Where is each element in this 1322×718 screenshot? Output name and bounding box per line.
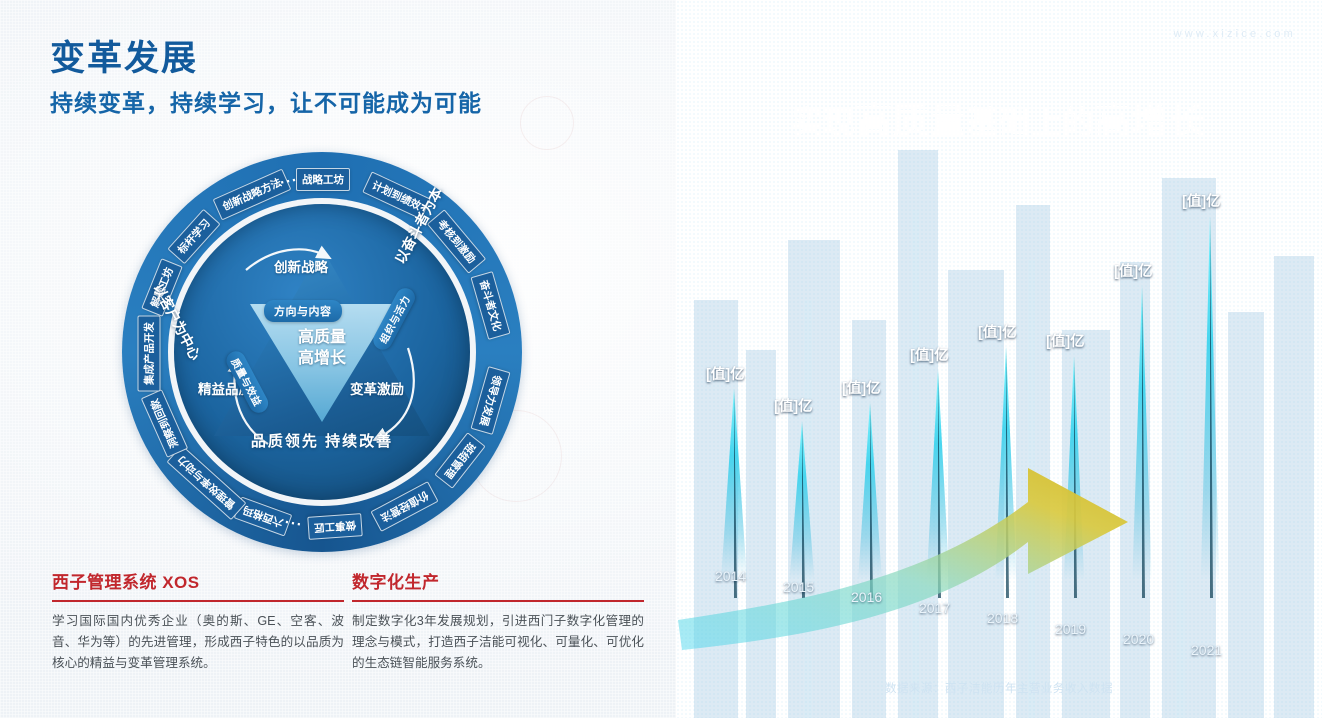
value-label-2016: [值]亿 bbox=[842, 377, 881, 398]
decor-circle-1 bbox=[520, 96, 574, 150]
wheel-bottom-slogan: 品质领先 持续改善 bbox=[122, 430, 522, 451]
core-label-line2: 高增长 bbox=[122, 349, 522, 369]
page-subtitle: 持续变革，持续学习，让不可能成为可能 bbox=[50, 84, 482, 118]
chart-source-note: 数据来源：西子洁能历年主营业务收入数据 bbox=[676, 680, 1322, 696]
pill-direction-content: 方向与内容 bbox=[264, 300, 342, 322]
column-rule bbox=[52, 600, 344, 602]
chart-title: 实现高质量基础上的高增长 bbox=[676, 92, 1322, 144]
year-label-2020: 2020 bbox=[1123, 631, 1154, 647]
year-label-2021: 2021 bbox=[1191, 642, 1222, 658]
value-label-2021: [值]亿 bbox=[1182, 190, 1221, 211]
management-wheel-diagram: 标杆学习创新战略方法战略工坊计划到绩效考核到激励奋斗者文化领导力发展班组管理价值… bbox=[122, 152, 522, 552]
corner-change-incentive: 变革激励 bbox=[350, 378, 404, 398]
column-body: 制定数字化3年发展规划，引进西门子数字化管理的理念与模式，打造西子洁能可视化、可… bbox=[352, 611, 644, 674]
right-panel: www.xizice.com 实现高质量基础上的高增长 bbox=[676, 0, 1322, 718]
chart-title-highlight-2: 高增长 bbox=[1095, 100, 1206, 141]
column-body: 学习国际国内优秀企业（奥的斯、GE、空客、波音、华为等）的先进管理，形成西子特色… bbox=[52, 611, 344, 674]
core-label-line1: 高质量 bbox=[122, 328, 522, 348]
value-label-2015: [值]亿 bbox=[774, 395, 813, 416]
revenue-spike-chart: [值]亿2014[值]亿2015[值]亿2016[值]亿2017[值]亿2018… bbox=[676, 150, 1322, 670]
column-heading: 数字化生产 bbox=[352, 568, 644, 593]
corner-innovation-strategy: 创新战略 bbox=[274, 256, 328, 276]
year-label-2018: 2018 bbox=[987, 610, 1018, 626]
year-label-2014: 2014 bbox=[715, 568, 746, 584]
chart-title-middle: 基础上的 bbox=[967, 105, 1095, 140]
chart-title-highlight-1: 高质量 bbox=[856, 100, 967, 141]
wheel-segment-9[interactable]: 做事工匠 bbox=[307, 513, 362, 540]
column-heading: 西子管理系统 XOS bbox=[52, 568, 344, 593]
page-title: 变革发展 bbox=[50, 30, 198, 81]
year-label-2016: 2016 bbox=[851, 589, 882, 605]
year-label-2015: 2015 bbox=[783, 579, 814, 595]
value-label-2019: [值]亿 bbox=[1046, 330, 1085, 351]
wheel-segment-2[interactable]: 战略工坊 bbox=[296, 168, 350, 191]
slide-root: 变革发展 持续变革，持续学习，让不可能成为可能 标杆学习创新战略方法战略工坊计划… bbox=[0, 0, 1322, 718]
chart-title-prefix: 实现 bbox=[792, 105, 856, 140]
info-column-digital: 数字化生产 制定数字化3年发展规划，引进西门子数字化管理的理念与模式，打造西子洁… bbox=[352, 568, 644, 674]
column-rule bbox=[352, 600, 644, 602]
left-panel: 变革发展 持续变革，持续学习，让不可能成为可能 标杆学习创新战略方法战略工坊计划… bbox=[0, 0, 676, 718]
value-label-2018: [值]亿 bbox=[978, 321, 1017, 342]
site-watermark: www.xizice.com bbox=[1174, 28, 1296, 40]
value-label-2020: [值]亿 bbox=[1114, 260, 1153, 281]
value-label-2017: [值]亿 bbox=[910, 344, 949, 365]
info-column-xos: 西子管理系统 XOS 学习国际国内优秀企业（奥的斯、GE、空客、波音、华为等）的… bbox=[52, 568, 344, 674]
year-label-2017: 2017 bbox=[919, 600, 950, 616]
value-label-2014: [值]亿 bbox=[706, 363, 745, 384]
chart-canvas bbox=[676, 150, 1322, 670]
year-label-2019: 2019 bbox=[1055, 621, 1086, 637]
